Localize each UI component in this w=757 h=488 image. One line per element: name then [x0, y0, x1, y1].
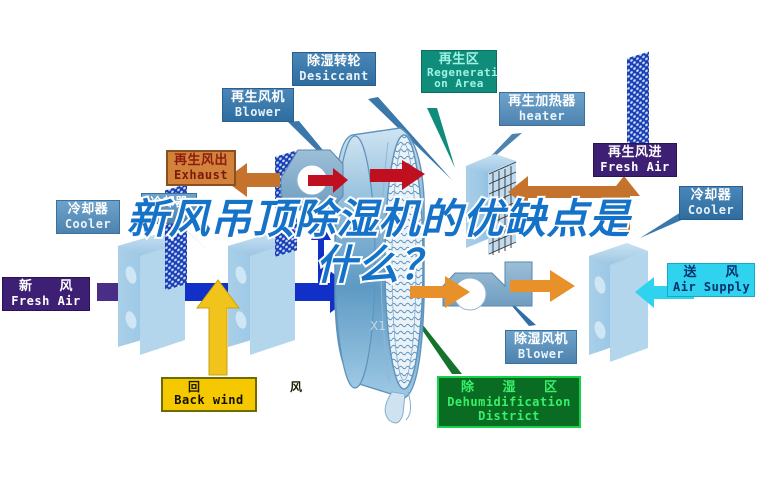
label-regen-fresh-air-cn: 再生风进	[599, 146, 671, 161]
label-dehum-blower[interactable]: 除湿风机 Blower	[505, 330, 577, 364]
label-dehum-blower-cn: 除湿风机	[511, 333, 571, 348]
label-regen-blower-cn: 再生风机	[228, 91, 288, 106]
label-back-wind[interactable]: 回 风 Back wind	[161, 377, 257, 412]
label-regen-area[interactable]: 再生区 Regenerati on Area	[421, 50, 497, 93]
label-desiccant-wheel-en: Desiccant	[298, 70, 370, 83]
label-back-wind-cn: 回 风	[168, 381, 250, 394]
label-regen-area-cn: 再生区	[427, 53, 491, 67]
diagram-canvas: X1	[0, 0, 757, 488]
label-regen-exhaust-en: Exhaust	[173, 169, 229, 182]
label-dehum-district-en-line1: Dehumidification	[444, 395, 574, 409]
label-regen-exhaust[interactable]: 再生风出 Exhaust	[166, 150, 236, 186]
label-dehum-district-cn: 除 湿 区	[444, 380, 574, 395]
rotor-watermark: X1	[370, 319, 386, 333]
label-regen-blower[interactable]: 再生风机 Blower	[222, 88, 294, 122]
page-title: 新风吊顶除湿机的优缺点是 什么？	[0, 196, 757, 288]
label-regen-area-en-line2: on Area	[427, 78, 491, 90]
label-fresh-air-in-en: Fresh Air	[8, 295, 84, 308]
label-regen-heater-en: heater	[505, 110, 579, 123]
label-regen-fresh-air-en: Fresh Air	[599, 161, 671, 174]
label-dehum-blower-en: Blower	[511, 348, 571, 361]
label-regen-heater-cn: 再生加热器	[505, 95, 579, 110]
label-dehum-district[interactable]: 除 湿 区 Dehumidification District	[437, 376, 581, 428]
label-dehum-district-en-line2: District	[444, 409, 574, 423]
page-title-line2: 什么？	[0, 242, 757, 288]
label-regen-exhaust-cn: 再生风出	[173, 154, 229, 169]
label-desiccant-wheel-cn: 除湿转轮	[298, 55, 370, 70]
label-desiccant-wheel[interactable]: 除湿转轮 Desiccant	[292, 52, 376, 86]
label-regen-heater[interactable]: 再生加热器 heater	[499, 92, 585, 126]
label-back-wind-en: Back wind	[168, 394, 250, 407]
label-regen-fresh-air[interactable]: 再生风进 Fresh Air	[593, 143, 677, 177]
page-title-line1: 新风吊顶除湿机的优缺点是	[127, 195, 631, 243]
label-regen-blower-en: Blower	[228, 106, 288, 119]
